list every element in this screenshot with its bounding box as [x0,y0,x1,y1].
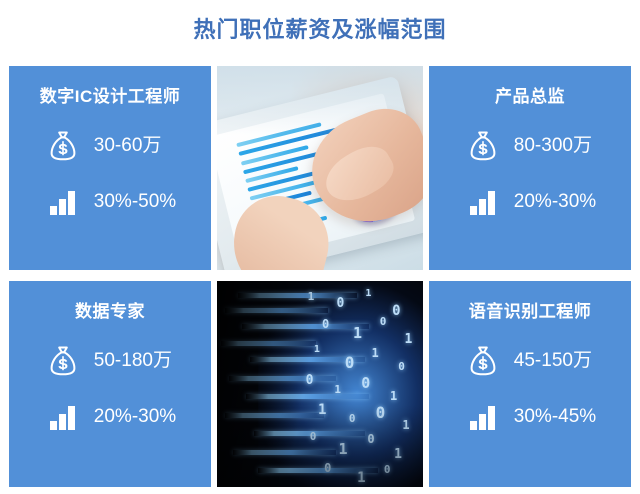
tablet-analytics-photo [217,66,423,270]
money-bag-icon: S [44,342,82,380]
growth-value: 30%-45% [514,407,596,426]
growth-value: 30%-50% [94,192,176,211]
salary-row: S 80-300万 [464,127,596,165]
growth-row: 20%-30% [464,183,596,221]
growth-value: 20%-30% [94,407,176,426]
job-card-top-left[interactable]: 数字IC设计工程师 S 30-60万 [9,66,211,270]
growth-value: 20%-30% [514,192,596,211]
job-title: 语音识别工程师 [469,303,592,322]
job-stats: S 30-60万 30%-50% [44,127,176,221]
money-bag-icon: S [464,342,502,380]
salary-row: S 30-60万 [44,127,176,165]
job-card-bottom-left[interactable]: 数据专家 S 50-180万 [9,281,211,487]
salary-row: S 50-180万 [44,342,176,380]
job-stats: S 45-150万 30%-45% [464,342,596,436]
cards-grid: 数字IC设计工程师 S 30-60万 [9,66,631,487]
salary-value: 45-150万 [514,351,592,370]
photo-vignette [217,281,423,487]
job-stats: S 50-180万 20%-30% [44,342,176,436]
infographic-root: 热门职位薪资及涨幅范围 数字IC设计工程师 S 30-60万 [0,0,640,494]
money-bag-icon: S [44,127,82,165]
salary-value: 30-60万 [94,136,162,155]
growth-row: 20%-30% [44,398,176,436]
binary-data-photo: 1 0 1 0 0 1 0 1 1 0 1 0 0 1 0 1 1 0 0 1 … [217,281,423,487]
bar-chart-icon [464,398,502,436]
salary-value: 80-300万 [514,136,592,155]
job-title: 数字IC设计工程师 [40,88,181,107]
page-title: 热门职位薪资及涨幅范围 [193,19,446,41]
growth-row: 30%-45% [464,398,596,436]
money-bag-icon: S [464,127,502,165]
growth-row: 30%-50% [44,183,176,221]
job-card-bottom-right[interactable]: 语音识别工程师 S 45-150万 [429,281,631,487]
bar-chart-icon [44,183,82,221]
bar-chart-icon [44,398,82,436]
bar-chart-icon [464,183,502,221]
page-title-bar: 热门职位薪资及涨幅范围 [0,0,640,60]
job-card-top-right[interactable]: 产品总监 S 80-300万 [429,66,631,270]
salary-row: S 45-150万 [464,342,596,380]
salary-value: 50-180万 [94,351,172,370]
job-stats: S 80-300万 20%-30% [464,127,596,221]
job-title: 数据专家 [75,303,145,322]
job-title: 产品总监 [495,88,565,107]
